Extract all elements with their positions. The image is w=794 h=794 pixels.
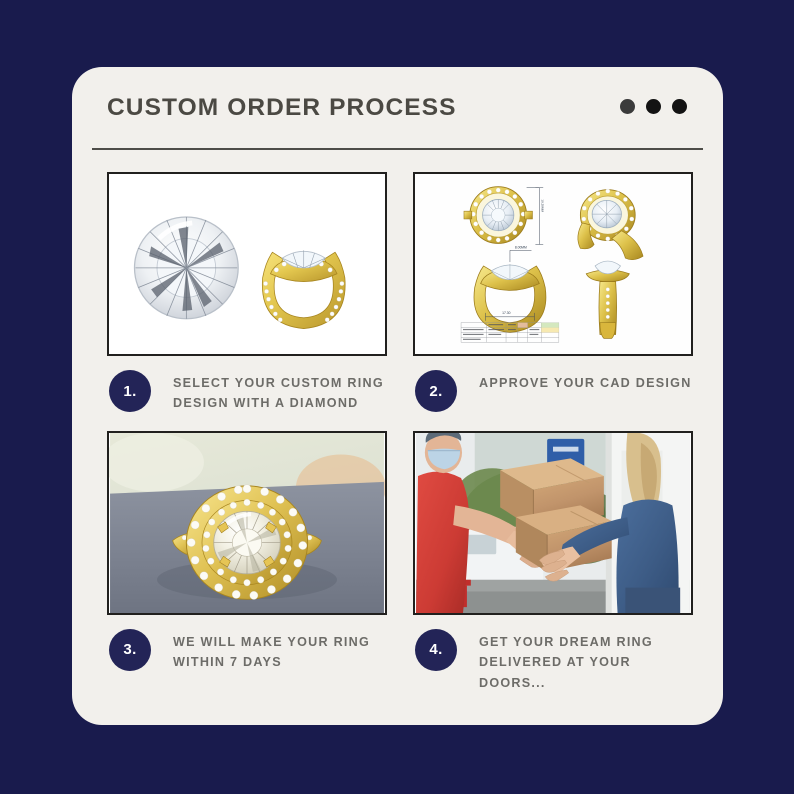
card-header: CUSTOM ORDER PROCESS: [72, 67, 723, 149]
diamond-and-gold-ring-photo: [109, 174, 385, 354]
infographic-card: CUSTOM ORDER PROCESS: [72, 67, 723, 725]
step-3-figure: [107, 431, 387, 615]
step-4-number: 4.: [415, 629, 457, 671]
step-2-label: APPROVE YOUR CAD DESIGN: [479, 370, 692, 393]
step-1-caption: 1. SELECT YOUR CUSTOM RING DESIGN WITH A…: [107, 370, 387, 414]
header-divider: [92, 148, 703, 150]
steps-grid: 1. SELECT YOUR CUSTOM RING DESIGN WITH A…: [107, 172, 693, 693]
step-4-figure: [413, 431, 693, 615]
cad-design-drawing: 10.20MM: [415, 174, 691, 354]
step-1-figure: [107, 172, 387, 356]
step-card-2: 10.20MM: [413, 172, 693, 414]
window-dot-1-icon[interactable]: [620, 99, 635, 114]
step-1-number: 1.: [109, 370, 151, 412]
svg-text:8.00MM: 8.00MM: [515, 245, 527, 249]
step-card-4: 4. GET YOUR DREAM RING DELIVERED AT YOUR…: [413, 431, 693, 693]
finished-halo-ring-photo: [109, 433, 385, 613]
step-3-caption: 3. WE WILL MAKE YOUR RING WITHIN 7 DAYS: [107, 629, 387, 673]
svg-text:17.30: 17.30: [502, 311, 510, 315]
step-2-number: 2.: [415, 370, 457, 412]
courier-delivering-boxes-photo: [415, 433, 691, 613]
page-title: CUSTOM ORDER PROCESS: [107, 94, 457, 122]
step-2-figure: 10.20MM: [413, 172, 693, 356]
step-2-caption: 2. APPROVE YOUR CAD DESIGN: [413, 370, 693, 412]
step-card-3: 3. WE WILL MAKE YOUR RING WITHIN 7 DAYS: [107, 431, 387, 693]
step-1-label: SELECT YOUR CUSTOM RING DESIGN WITH A DI…: [173, 370, 387, 414]
window-dot-2-icon[interactable]: [646, 99, 661, 114]
step-4-caption: 4. GET YOUR DREAM RING DELIVERED AT YOUR…: [413, 629, 693, 693]
window-dot-3-icon[interactable]: [672, 99, 687, 114]
window-dots: [620, 99, 687, 114]
step-card-1: 1. SELECT YOUR CUSTOM RING DESIGN WITH A…: [107, 172, 387, 414]
step-3-label: WE WILL MAKE YOUR RING WITHIN 7 DAYS: [173, 629, 387, 673]
step-4-label: GET YOUR DREAM RING DELIVERED AT YOUR DO…: [479, 629, 693, 693]
step-3-number: 3.: [109, 629, 151, 671]
svg-text:10.20MM: 10.20MM: [540, 199, 544, 212]
